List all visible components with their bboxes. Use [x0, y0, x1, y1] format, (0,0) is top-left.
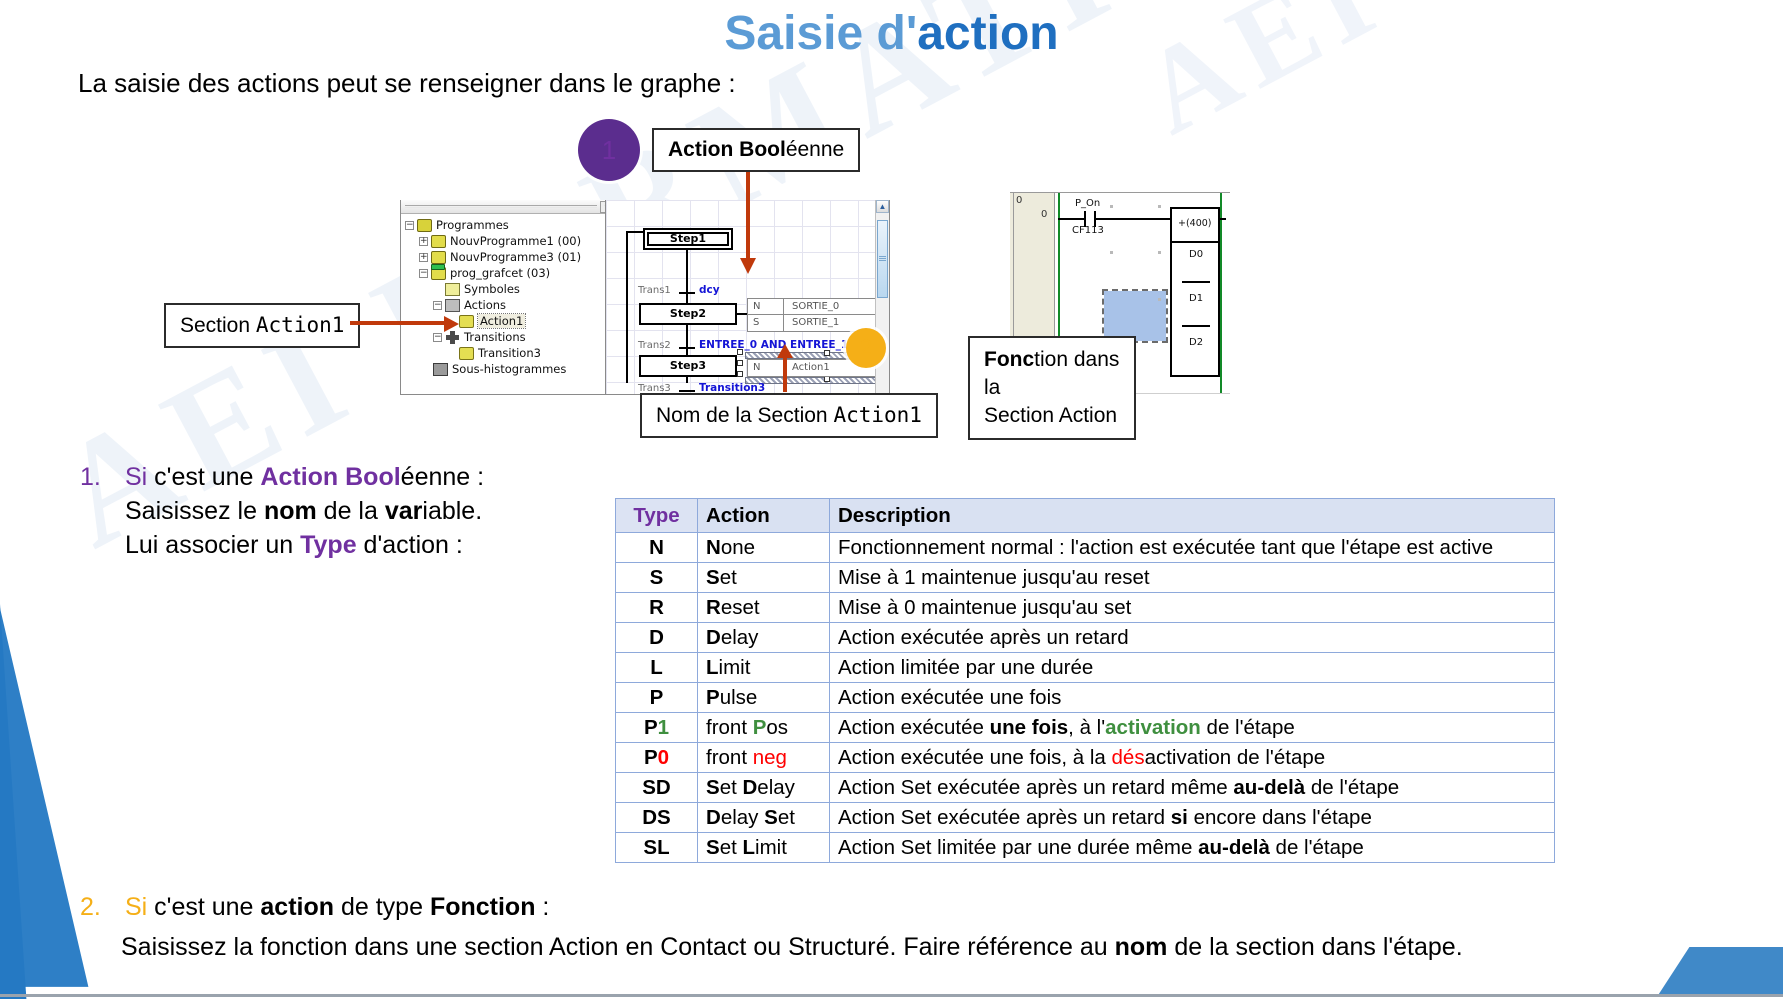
symbols-icon [445, 283, 460, 296]
footer-rule [0, 994, 1783, 997]
action-rest: eset [721, 596, 760, 619]
column-header-action: Action [698, 499, 830, 533]
list-item-1-line-3: Lui associer un Type d'action : [125, 528, 484, 562]
ladder-selected-cell[interactable] [1104, 291, 1166, 341]
text: : [535, 893, 549, 921]
cell-description: Mise à 0 maintenue jusqu'au set [830, 593, 1555, 623]
column-header-type: Type [616, 499, 698, 533]
actions-folder-icon [445, 299, 460, 312]
sfc-transition-label-2: Trans2 [638, 340, 671, 351]
keyword-var: var [385, 497, 423, 525]
tree-item-sous-histogrammes[interactable]: Sous-histogrammes [403, 361, 631, 377]
grid-dot [1110, 205, 1113, 208]
action-initial: P [753, 716, 767, 739]
cell-type: S [616, 563, 698, 593]
action-types-table: Type Action Description N None Fonctionn… [615, 498, 1555, 863]
action-initial: D [706, 626, 721, 649]
tree-item-label: Sous-histogrammes [452, 362, 566, 376]
scrollbar-grip [879, 256, 886, 262]
action-rest: os [766, 716, 788, 739]
action-rest: et [720, 566, 737, 589]
ladder-rung-wire-right [1096, 218, 1170, 220]
text: Saisissez le [125, 497, 264, 525]
selection-handle[interactable] [824, 350, 830, 356]
action-rest: elay [721, 626, 759, 649]
project-browser-pane: ▾ ✕ − Programmes + NouvProgramme1 (00) +… [400, 200, 632, 395]
cell-type: N [616, 533, 698, 563]
transition-item-icon [459, 347, 474, 360]
keyword-type: Type [300, 531, 357, 559]
lead-paragraph: La saisie des actions peut se renseigner… [78, 68, 736, 99]
tree-item-label: Programmes [436, 218, 509, 232]
arrow-to-step3-action [783, 356, 787, 392]
tree-item-actions[interactable]: − Actions [403, 297, 631, 313]
cell-action: front Pos [698, 713, 830, 743]
text: éenne : [401, 463, 484, 491]
arrowhead-right [444, 316, 459, 332]
cell-description: Action exécutée après un retard [830, 623, 1555, 653]
editor-scrollbar[interactable]: ▲ [875, 200, 889, 394]
ladder-function-block[interactable]: +(400) D0 D1 D2 [1170, 207, 1220, 377]
table-row: SD Set Delay Action Set exécutée après u… [616, 773, 1555, 803]
callout-mono-value: Action1 [833, 403, 922, 427]
page-title-part2: action [917, 7, 1058, 60]
titlebar-grip [405, 205, 597, 208]
cell-type: SD [616, 773, 698, 803]
sfc-transition-bar-2 [679, 347, 695, 349]
callout-prefix: Nom de la Section [656, 404, 833, 427]
subchart-icon [433, 363, 448, 376]
action-qualifier: N [748, 299, 784, 314]
ladder-rung-number: 0 [1041, 209, 1047, 220]
scroll-up-icon[interactable]: ▲ [876, 200, 889, 213]
action-initial: N [706, 536, 721, 559]
arrowhead-up [777, 344, 793, 358]
function-block-operand: D0 [1189, 249, 1203, 260]
action-variable: SORTIE_0 [784, 299, 839, 314]
action-rest-2: et [778, 806, 795, 829]
text: de type [334, 893, 430, 921]
cell-description: Action Set exécutée après un retard si e… [830, 803, 1555, 833]
callout-mono-value: Action1 [256, 313, 345, 337]
action-initial-2: S [764, 806, 778, 829]
tree-item-label: Transitions [464, 330, 526, 344]
text: d'action : [357, 531, 463, 559]
keyword-si: Si [125, 463, 147, 491]
callout-text-line2: Section Action [984, 404, 1117, 427]
sfc-step2-action-table[interactable]: N SORTIE_0 S SORTIE_1 [747, 298, 889, 332]
function-block-divider [1172, 241, 1218, 243]
column-header-description: Description [830, 499, 1555, 533]
grid-dot [1158, 251, 1161, 254]
sfc-return-rail [626, 231, 628, 383]
grid-dot [1110, 251, 1113, 254]
page-title-part1: Saisie d' [724, 7, 917, 60]
sfc-step-1[interactable]: Step1 [643, 228, 733, 250]
sfc-step2-action-link [737, 313, 747, 315]
tree-item-label: Transition3 [478, 346, 541, 360]
keyword-fonction: Fonction [430, 893, 536, 921]
table-row: P1 front Pos Action exécutée une fois, à… [616, 713, 1555, 743]
action-initial-2: L [742, 836, 755, 859]
cell-type: L [616, 653, 698, 683]
action-rest: ulse [720, 686, 758, 709]
cell-description: Action exécutée une fois, à l'activation… [830, 713, 1555, 743]
table-row: D Delay Action exécutée après un retard [616, 623, 1555, 653]
badge-1: 1 [578, 119, 640, 181]
action-initial: R [706, 596, 721, 619]
callout-section-action1: Section Action1 [164, 303, 360, 348]
action-qualifier: N [748, 360, 784, 376]
sfc-step-2[interactable]: Step2 [639, 303, 737, 325]
function-block-operand: D1 [1189, 293, 1203, 304]
list-item-1-line-2: Saisissez le nom de la variable. [125, 494, 484, 528]
text: Saisissez la fonction dans une section A… [121, 933, 1115, 961]
cell-description: Action Set exécutée après un retard même… [830, 773, 1555, 803]
text: Lui associer un [125, 531, 300, 559]
cell-type: D [616, 623, 698, 653]
keyword-nom: nom [1115, 933, 1168, 961]
action-initial: S [706, 776, 720, 799]
tree-item-symboles[interactable]: Symboles [403, 281, 631, 297]
text: de la [317, 497, 385, 525]
ladder-rung-wire-left [1058, 218, 1084, 220]
list-number-2: 2. [80, 890, 101, 924]
list-number-1: 1. [80, 460, 101, 494]
contact-name-label: P_On [1075, 198, 1100, 209]
tree-item-label: Actions [464, 298, 506, 312]
contact-address-label: CF113 [1072, 225, 1104, 236]
expander-icon[interactable]: − [433, 333, 442, 342]
table-row: S Set Mise à 1 maintenue jusqu'au reset [616, 563, 1555, 593]
text: de la section dans l'étape. [1167, 933, 1462, 961]
keyword-si: Si [125, 893, 147, 921]
cell-description: Action limitée par une durée [830, 653, 1555, 683]
selection-handle[interactable] [737, 360, 743, 366]
action-types-table-wrap: Type Action Description N None Fonctionn… [615, 498, 1555, 863]
cell-action: Limit [698, 653, 830, 683]
function-block-operand: D2 [1189, 337, 1203, 348]
sfc-transition-bar-3 [679, 390, 695, 392]
badge-2: 2 [846, 328, 886, 368]
action-rest: neg [753, 746, 787, 769]
callout-text-rest: éenne [786, 138, 844, 161]
list-item-1-body: Si c'est une Action Booléenne : Saisisse… [125, 460, 484, 562]
cell-type: R [616, 593, 698, 623]
action-initial: S [706, 566, 720, 589]
programs-icon [417, 219, 432, 232]
text: c'est une [147, 463, 260, 491]
ladder-block-output-wire [1220, 218, 1226, 220]
table-row: DS Delay Set Action Set exécutée après u… [616, 803, 1555, 833]
action-rest: et [720, 776, 743, 799]
table-row: P Pulse Action exécutée une fois [616, 683, 1555, 713]
program-icon [431, 251, 446, 264]
tree-item-label: Symboles [464, 282, 520, 296]
table-row: R Reset Mise à 0 maintenue jusqu'au set [616, 593, 1555, 623]
action-initial-2: D [742, 776, 757, 799]
action-rest: one [721, 536, 755, 559]
callout-text-bold: Fonc [984, 348, 1034, 371]
action-item-icon [459, 315, 474, 328]
selection-band-bottom [745, 377, 890, 384]
keyword-nom: nom [264, 497, 317, 525]
tree-item-transition3[interactable]: Transition3 [403, 345, 631, 361]
program-icon [431, 235, 446, 248]
cell-action: Delay Set [698, 803, 830, 833]
list-item-2-line-2: Saisissez la fonction dans une section A… [121, 930, 1463, 964]
action-row[interactable]: N SORTIE_0 [748, 299, 888, 315]
cell-action: None [698, 533, 830, 563]
page-title: Saisie d'action [0, 6, 1783, 61]
selection-handle[interactable] [737, 371, 743, 377]
action-variable: Action1 [784, 360, 830, 376]
cell-action: Set Limit [698, 833, 830, 863]
table-row: SL Set Limit Action Set limitée par une … [616, 833, 1555, 863]
transitions-icon [445, 331, 460, 344]
action-initial: S [706, 836, 720, 859]
tree-item-label: NouvProgramme3 (01) [450, 250, 581, 264]
keyword-action: action [260, 893, 334, 921]
cell-action: Delay [698, 623, 830, 653]
action-rest: imit [719, 656, 751, 679]
callout-text-bold: Action Bool [668, 138, 786, 161]
action-qualifier: S [748, 315, 784, 331]
callout-nom-section: Nom de la Section Action1 [640, 393, 938, 438]
sfc-transition-label-1: Trans1 [638, 285, 671, 296]
table-row: L Limit Action limitée par une durée [616, 653, 1555, 683]
expander-icon[interactable]: − [433, 301, 442, 310]
callout-action-booleenne: Action Booléenne [652, 128, 860, 172]
tree-item-label: NouvProgramme1 (00) [450, 234, 581, 248]
table-row: N None Fonctionnement normal : l'action … [616, 533, 1555, 563]
tree-item-nouvprogramme1[interactable]: + NouvProgramme1 (00) [403, 233, 631, 249]
cell-action: Set [698, 563, 830, 593]
action-variable: SORTIE_1 [784, 315, 839, 331]
text: c'est une [147, 893, 260, 921]
action-rest-2: imit [755, 836, 787, 859]
cell-action: Reset [698, 593, 830, 623]
cell-type: P0 [616, 743, 698, 773]
cell-description: Action Set limitée par une durée même au… [830, 833, 1555, 863]
tree-item-transitions[interactable]: − Transitions [403, 329, 631, 345]
program-active-icon [431, 267, 446, 280]
cell-action: front neg [698, 743, 830, 773]
cell-type: P [616, 683, 698, 713]
callout-prefix: Section [180, 314, 256, 337]
arrowhead-down [740, 258, 756, 274]
table-row: P0 front neg Action exécutée une fois, à… [616, 743, 1555, 773]
pane-titlebar: ▾ ✕ [401, 200, 631, 214]
expander-icon[interactable]: + [419, 237, 428, 246]
cell-description: Action exécutée une fois, à la désactiva… [830, 743, 1555, 773]
grid-dot [1158, 205, 1161, 208]
ladder-right-power-rail [1220, 193, 1222, 394]
table-body: N None Fonctionnement normal : l'action … [616, 533, 1555, 863]
grid-dot [1158, 298, 1161, 301]
action-rest: et [720, 836, 743, 859]
list-item-1-line-1: Si c'est une Action Booléenne : [125, 460, 484, 494]
table-header-row: Type Action Description [616, 499, 1555, 533]
decor-shape-bottom-right [1653, 947, 1783, 995]
cell-action: Pulse [698, 683, 830, 713]
callout-fonction-section: Fonction dans la Section Action [968, 336, 1136, 440]
action-prefix: front [706, 746, 753, 769]
tree-item-label: prog_grafcet (03) [450, 266, 550, 280]
action-rest: elay [721, 806, 764, 829]
cell-description: Action exécutée une fois [830, 683, 1555, 713]
arrow-to-tree-action1 [350, 321, 446, 325]
tree-item-programmes[interactable]: − Programmes [403, 217, 631, 233]
cell-description: Fonctionnement normal : l'action est exé… [830, 533, 1555, 563]
cell-type: SL [616, 833, 698, 863]
operand-separator [1182, 325, 1210, 327]
sfc-transition-condition-1[interactable]: dcy [699, 284, 720, 296]
tree-item-prog-grafcet[interactable]: − prog_grafcet (03) [403, 265, 631, 281]
action-prefix: front [706, 716, 753, 739]
ladder-gutter-top-number: 0 [1016, 195, 1022, 206]
action-initial: D [706, 806, 721, 829]
operand-separator [1182, 281, 1210, 283]
text: iable. [422, 497, 482, 525]
software-screenshot: ▾ ✕ − Programmes + NouvProgramme1 (00) +… [400, 200, 1010, 395]
action-rest-2: elay [757, 776, 795, 799]
expander-icon[interactable]: + [419, 253, 428, 262]
arrow-to-action-table [746, 172, 750, 260]
tree-item-nouvprogramme3[interactable]: + NouvProgramme3 (01) [403, 249, 631, 265]
list-item-2-line-1: Si c'est une action de type Fonction : [125, 890, 1463, 924]
action-initial: L [706, 656, 719, 679]
action-initial: P [706, 686, 720, 709]
list-item-2-body: Si c'est une action de type Fonction : S… [125, 890, 1463, 964]
keyword-action-bool: Action Bool [260, 463, 400, 491]
selection-handle[interactable] [737, 349, 743, 355]
tree-item-label: Action1 [478, 314, 525, 328]
expander-icon[interactable]: − [405, 221, 414, 230]
cell-description: Mise à 1 maintenue jusqu'au reset [830, 563, 1555, 593]
project-tree: − Programmes + NouvProgramme1 (00) + Nou… [401, 214, 631, 377]
cell-type: P1 [616, 713, 698, 743]
sfc-transition-bar-1 [679, 292, 695, 294]
cell-type: DS [616, 803, 698, 833]
expander-icon[interactable]: − [419, 269, 428, 278]
cell-action: Set Delay [698, 773, 830, 803]
sfc-step-3[interactable]: Step3 [639, 355, 737, 377]
function-block-title: +(400) [1178, 218, 1212, 229]
